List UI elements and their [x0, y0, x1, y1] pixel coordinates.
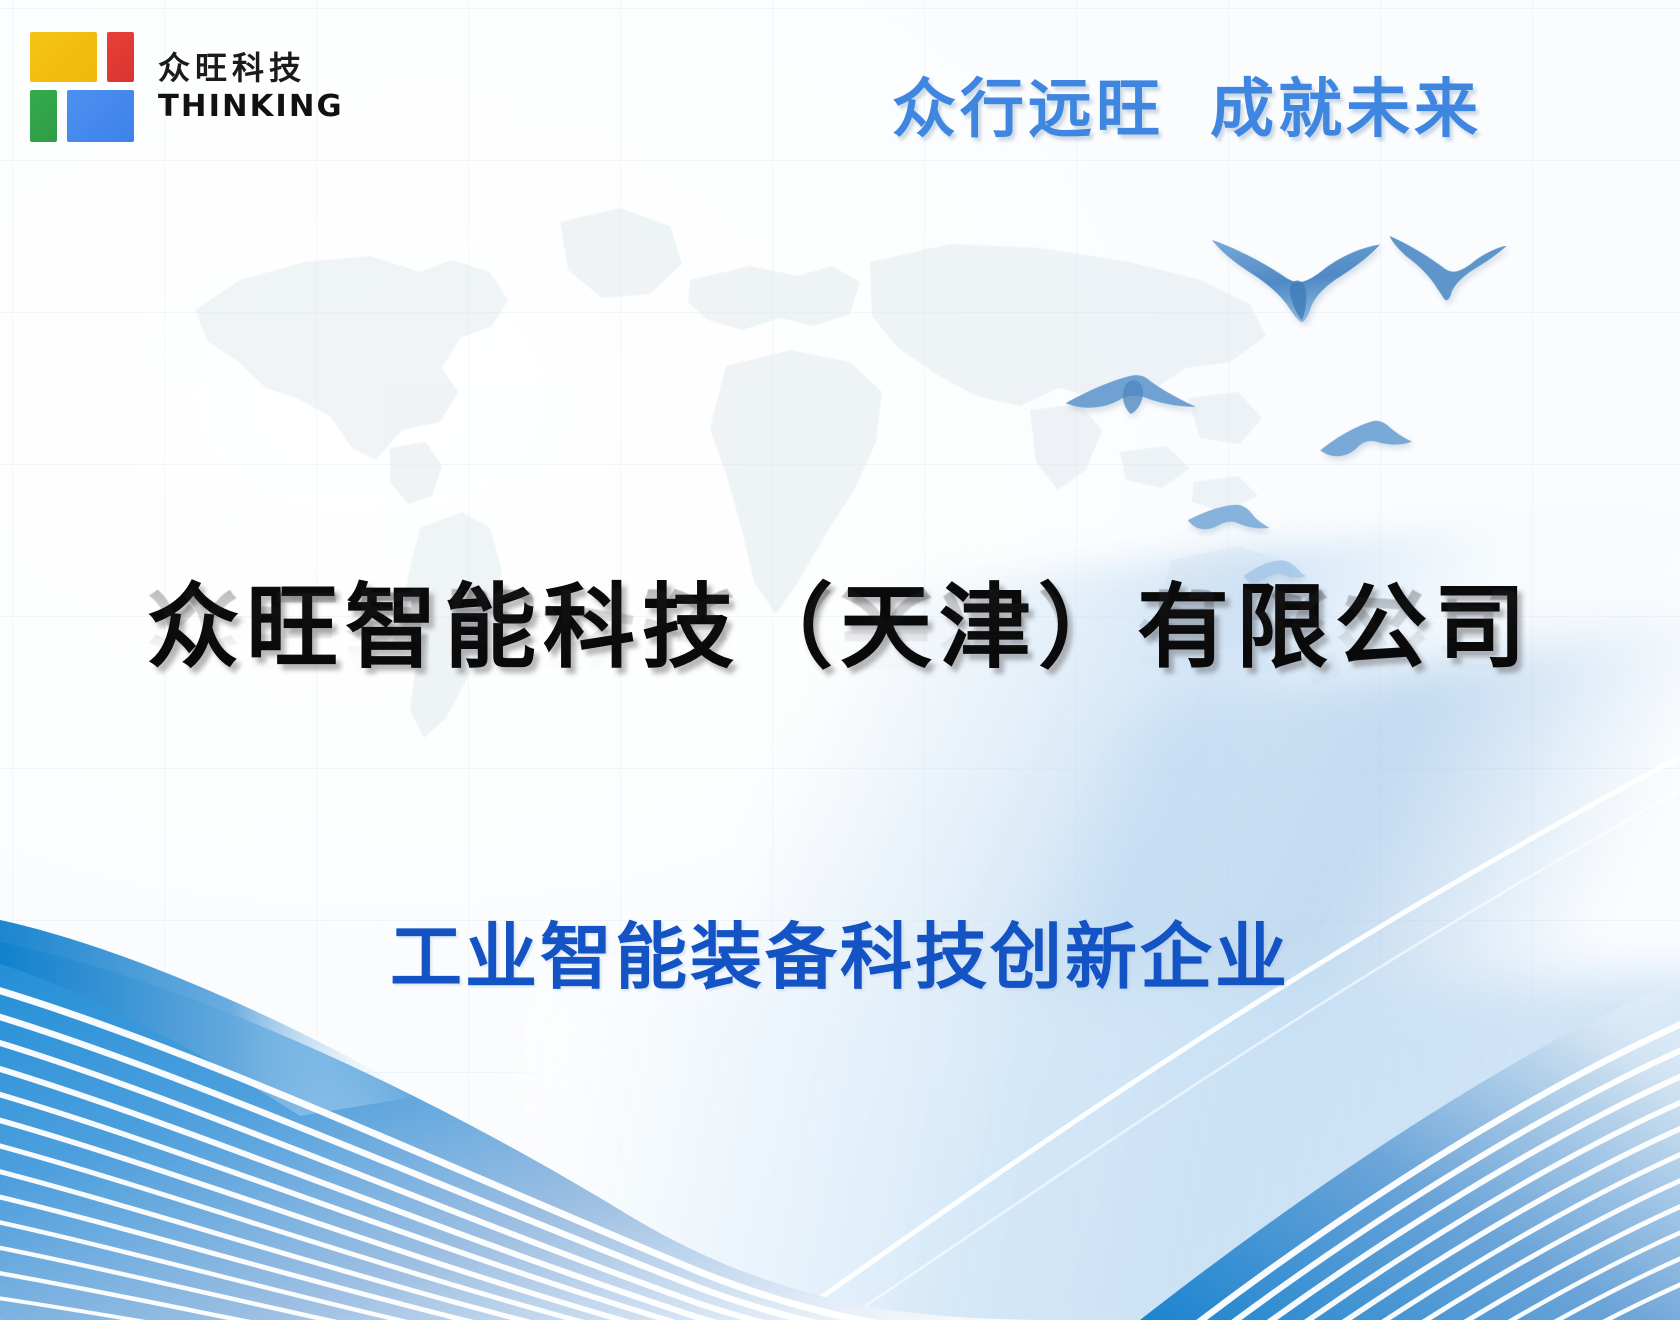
blue-stripes-bottom-right-icon — [1040, 960, 1680, 1320]
company-slogan: 众行远旺成就未来 — [892, 58, 1482, 150]
zhongwang-logo[interactable]: 众旺科技 THINKING — [30, 32, 340, 142]
title-slide: 众旺科技 THINKING 众行远旺成就未来 众旺智能科技（天津）有限公司 众旺… — [0, 0, 1680, 1320]
logo-chinese-name: 众旺科技 — [158, 48, 340, 88]
slogan-part-1: 众行远旺 — [892, 73, 1164, 147]
logo-english-name: THINKING — [158, 88, 344, 126]
logo-mark — [30, 32, 134, 142]
page-title-reflection: 众旺智能科技（天津）有限公司 — [0, 578, 1680, 681]
red-block-icon — [107, 32, 134, 82]
page-subtitle: 工业智能装备科技创新企业 — [0, 898, 1680, 1003]
logo-wordmark: 众旺科技 THINKING — [158, 35, 340, 139]
slogan-part-2: 成就未来 — [1210, 73, 1482, 147]
blue-block-icon — [67, 90, 134, 142]
title-group: 众旺智能科技（天津）有限公司 众旺智能科技（天津）有限公司 — [0, 576, 1680, 784]
logo-bottom-row — [30, 90, 134, 142]
yellow-block-icon — [30, 32, 97, 82]
green-block-icon — [30, 90, 57, 142]
